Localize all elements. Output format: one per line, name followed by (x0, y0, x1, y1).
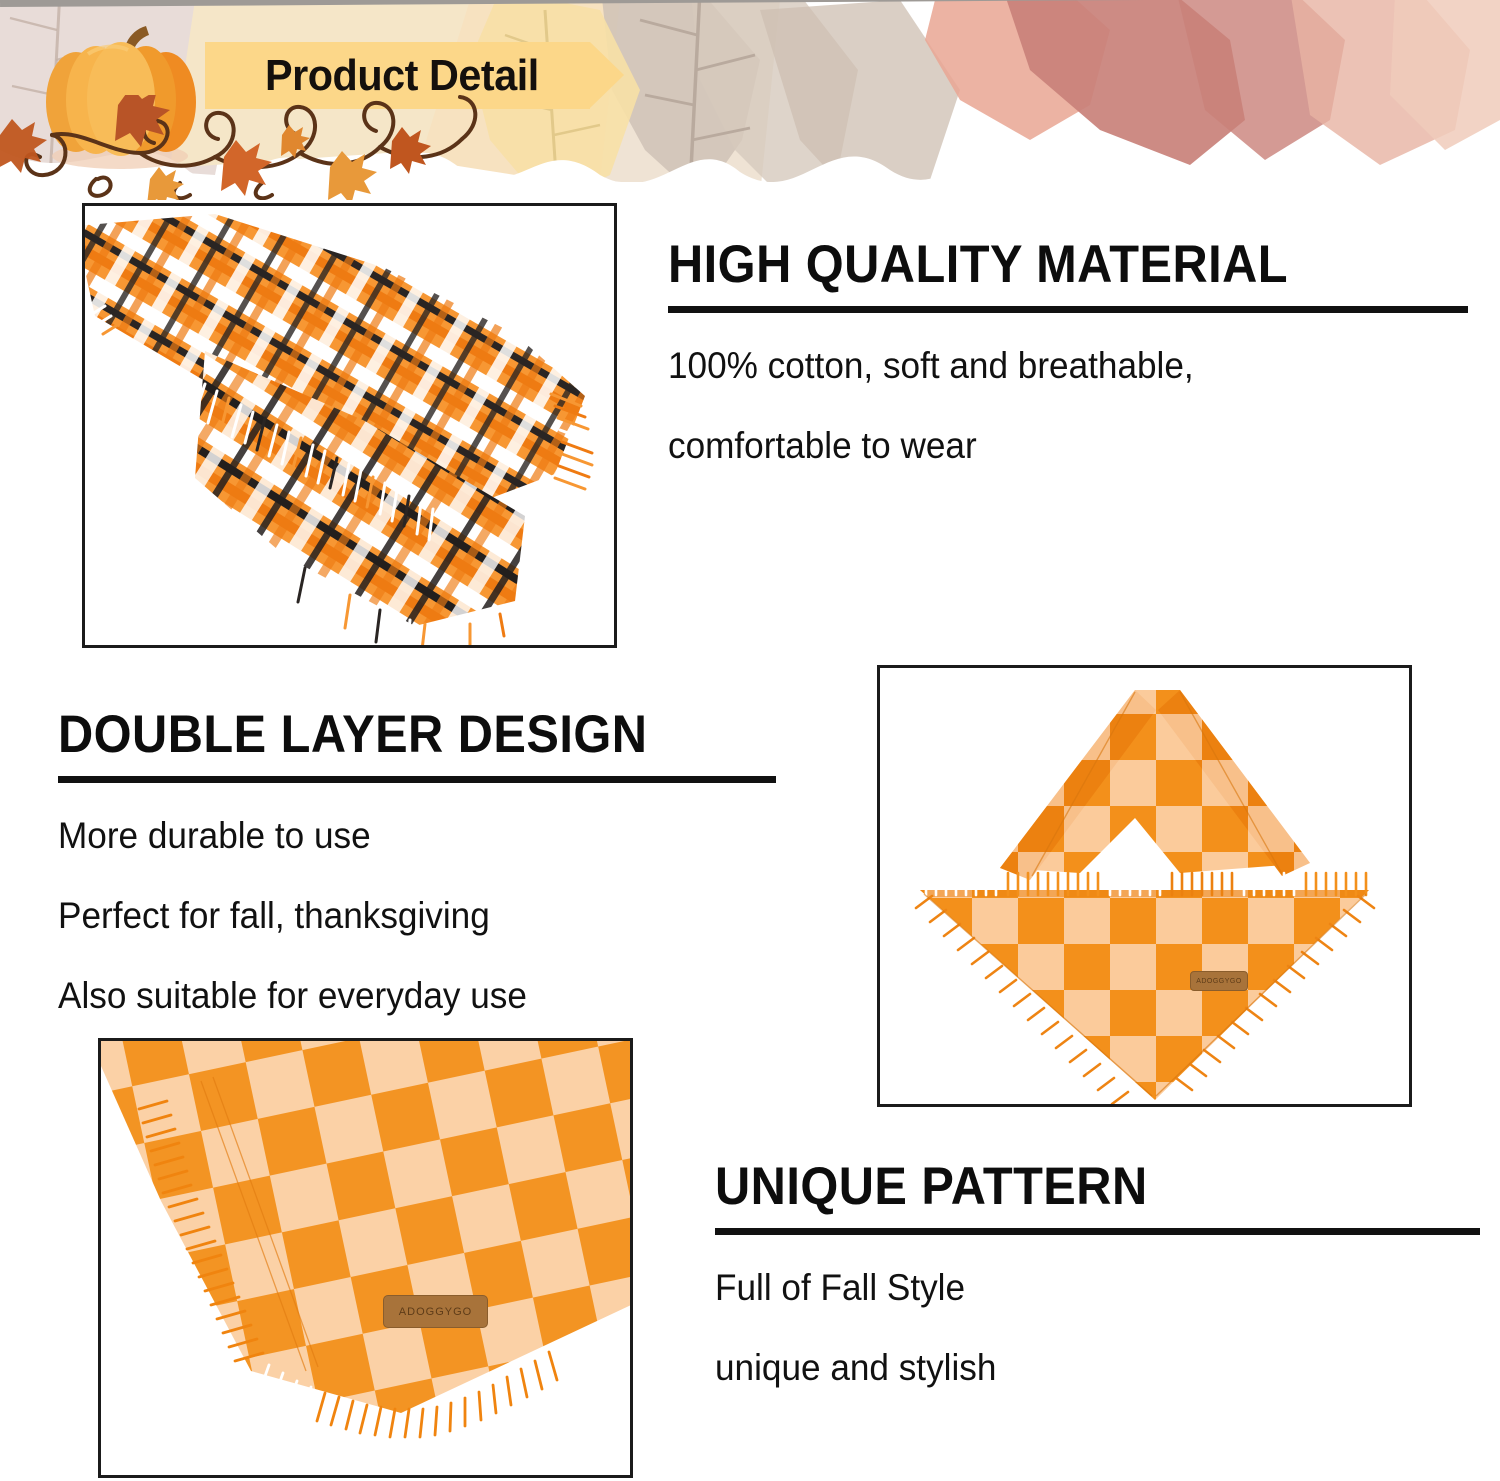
feature-heading: DOUBLE LAYER DESIGN (58, 708, 719, 762)
heading-rule (715, 1228, 1480, 1235)
feature-lines: More durable to use Perfect for fall, th… (58, 817, 776, 1014)
photo-fringe-closeup (82, 203, 617, 648)
brand-tag-text: ADOGGYGO (1196, 978, 1242, 985)
feature-lines: 100% cotton, soft and breathable, comfor… (668, 347, 1468, 464)
feature-line: Full of Fall Style (715, 1269, 1442, 1306)
feature-line: Perfect for fall, thanksgiving (58, 897, 740, 934)
feature-line: More durable to use (58, 817, 740, 854)
feature-double-layer-design: DOUBLE LAYER DESIGN More durable to use … (58, 708, 776, 1014)
photo-flat-corner (98, 1038, 633, 1478)
feature-heading: UNIQUE PATTERN (715, 1160, 1419, 1214)
autumn-vine-icon (0, 95, 520, 200)
feature-line: 100% cotton, soft and breathable, (668, 347, 1428, 384)
feature-lines: Full of Fall Style unique and stylish (715, 1269, 1480, 1386)
feature-unique-pattern: UNIQUE PATTERN Full of Fall Style unique… (715, 1160, 1480, 1386)
feature-line: comfortable to wear (668, 427, 1428, 464)
feature-line: unique and stylish (715, 1349, 1442, 1386)
fringe-closeup-image (85, 206, 614, 645)
photo-folded-bandana: ADOGGYGO (877, 665, 1412, 1107)
folded-bandana-image (880, 668, 1409, 1104)
brand-leather-tag: ADOGGYGO (1190, 971, 1248, 991)
flat-corner-image (101, 1041, 630, 1475)
feature-high-quality-material: HIGH QUALITY MATERIAL 100% cotton, soft … (668, 238, 1468, 464)
header-banner: Product Detail (0, 0, 1500, 200)
brand-tag-text: ADOGGYGO (399, 1306, 472, 1318)
heading-rule (58, 776, 776, 783)
feature-heading: HIGH QUALITY MATERIAL (668, 238, 1404, 292)
feature-line: Also suitable for everyday use (58, 977, 740, 1014)
brand-leather-tag-flat: ADOGGYGO (383, 1295, 488, 1328)
heading-rule (668, 306, 1468, 313)
